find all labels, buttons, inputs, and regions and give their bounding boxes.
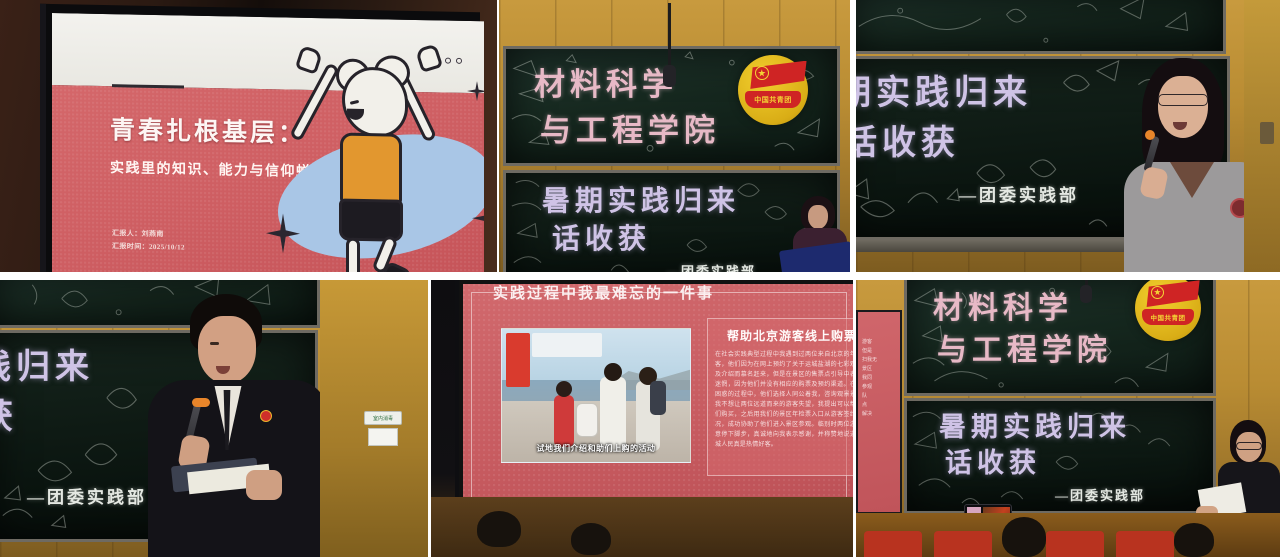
photo-projected-slide: 实践过程中我最难忘的一件事 试地我们介绍和助们上购的活动 (431, 280, 853, 557)
eye (210, 342, 219, 345)
audience-head (1174, 523, 1214, 557)
college-line-1: 材料科学 (933, 283, 1073, 327)
mascot-shorts (339, 199, 403, 242)
microphone-head (1145, 130, 1155, 140)
slide-title: 青春扎根基层： (110, 110, 306, 150)
glasses-icon (1236, 442, 1262, 450)
face (808, 205, 828, 229)
seat-back (1046, 531, 1104, 557)
mascot-right-hand (415, 44, 443, 73)
lapel-badge (260, 410, 272, 422)
blackboard-upper: 材料科学 与工程学院 中国共青团 (503, 46, 840, 166)
audience-head (477, 511, 521, 547)
college-line-2: 与工程学院 (937, 325, 1112, 369)
wall-socket (1260, 122, 1274, 144)
male-speaker (148, 294, 328, 557)
theme-line-1: 期实践归来 (856, 65, 1032, 114)
video-backpack (650, 381, 666, 415)
person-at-podium (787, 196, 850, 272)
wall-notice-sign: 室内消毒 (364, 411, 402, 425)
board-attribution: —团委实践部 (959, 181, 1079, 206)
slide-text-sliver: 游客但是扫我无景区我同参观队点解决 (862, 338, 898, 419)
title-slide: 青春扎根基层： 实践里的知识、能力与信仰蜕变 汇报人：刘燕南 汇报时间：2025… (52, 13, 484, 272)
mascot-left-arm (289, 62, 340, 142)
theme-fragment-1: 践归来 (0, 339, 94, 388)
board-attribution: —团委实践部 (666, 261, 756, 272)
video-easel-board (576, 403, 598, 437)
photo-female-speaker: 期实践归来 话收获 —团委实践部 (856, 0, 1280, 272)
mascot-shirt (340, 133, 402, 206)
video-person-white (600, 377, 626, 451)
hanging-microphone-cable (668, 3, 671, 67)
mascot-left-hand (295, 45, 323, 75)
video-white-sign (532, 333, 602, 357)
slide-surface: 实践过程中我最难忘的一件事 试地我们介绍和助们上购的活动 (463, 284, 853, 518)
cheering-student-illustration (292, 42, 472, 272)
date-line: 汇报时间：2025/10/12 (112, 240, 185, 254)
mascot-left-leg (346, 238, 360, 272)
seat-back (864, 531, 922, 557)
blackboard-upper: 材料科学 与工程学院 中国共青团 (904, 280, 1216, 396)
hanging-microphone (663, 65, 676, 87)
glasses-icon (1158, 94, 1208, 106)
wall-notice-card (368, 428, 398, 446)
seat-back (1116, 531, 1174, 557)
slide-header: 实践过程中我最难忘的一件事 (493, 284, 714, 303)
theme-line-2: 话收获 (945, 441, 1041, 480)
audience-head (1002, 517, 1046, 557)
theme-line-2: 话收获 (856, 115, 960, 164)
photo-collage: 青春扎根基层： 实践里的知识、能力与信仰蜕变 汇报人：刘燕南 汇报时间：2025… (0, 0, 1280, 557)
emblem-banner: 中国共青团 (1142, 309, 1195, 325)
communist-youth-league-emblem: 中国共青团 (1135, 280, 1201, 341)
podium-folder (779, 241, 850, 272)
face (198, 316, 256, 384)
projector-screen-edge: 游客但是扫我无景区我同参观队点解决 (856, 310, 902, 514)
hanging-microphone (1080, 285, 1092, 303)
college-line-1: 材料科学 (534, 59, 678, 104)
slide-card-body: 在社会实践典型过程中我遇到过两位来自北京的年轻游客，他们因为在网上预约了关于运城… (715, 350, 853, 450)
star-circle-icon (755, 66, 769, 80)
chalk-doodles (856, 0, 1223, 56)
emblem-banner: 中国共青团 (745, 91, 801, 108)
blackboard-upper-strip (856, 0, 1226, 54)
audience-head (571, 523, 611, 555)
photo-male-speaker: 践归来 获 —团委实践部 室内消毒 (0, 280, 428, 557)
video-person-red (554, 395, 574, 447)
seat-back (934, 531, 992, 557)
theme-fragment-2: 获 (0, 389, 18, 438)
projector-screen: 实践过程中我最难忘的一件事 试地我们介绍和助们上购的活动 (455, 280, 853, 526)
theme-line-1: 暑期实践归来 (542, 179, 740, 219)
board-attribution: —团委实践部 (27, 483, 147, 508)
video-person-red-head (556, 381, 572, 397)
slide-card-title: 帮助北京游客线上购票 (715, 327, 853, 344)
video-caption: 试地我们介绍和助们上购的活动 (502, 443, 690, 454)
college-line-2: 与工程学院 (540, 105, 720, 150)
video-red-banner (506, 333, 530, 387)
embedded-video: 试地我们介绍和助们上购的活动 (501, 328, 691, 463)
microphone-head (192, 398, 210, 407)
photo-wide-blackboard: 游客但是扫我无景区我同参观队点解决 材料科学 与工程学院 中国共青团 (856, 280, 1280, 557)
hand-holding-notes (246, 470, 282, 500)
board-attribution: —团委实践部 (1055, 485, 1145, 504)
blackboard-lower: 暑期实践归来 话收获 —团委实践部 (904, 398, 1216, 514)
photo-blackboard-header: 材料科学 与工程学院 中国共青团 (499, 0, 850, 272)
wall-notice-text: 室内消毒 (373, 415, 393, 422)
video-person-white-head (604, 363, 622, 381)
photo-title-slide: 青春扎根基层： 实践里的知识、能力与信仰蜕变 汇报人：刘燕南 汇报时间：2025… (0, 0, 497, 272)
theme-line-2: 话收获 (552, 217, 651, 257)
star-circle-icon (1151, 286, 1164, 299)
slide-meta: 汇报人：刘燕南 汇报时间：2025/10/12 (112, 227, 185, 254)
communist-youth-league-emblem: 中国共青团 (738, 55, 808, 125)
slide-text-card: 帮助北京游客线上购票 在社会实践典型过程中我遇到过两位来自北京的年轻游客，他们因… (707, 318, 853, 476)
projector-screen-frame: 青春扎根基层： 实践里的知识、能力与信仰蜕变 汇报人：刘燕南 汇报时间：2025… (40, 4, 480, 272)
theme-line-1: 暑期实践归来 (939, 405, 1131, 444)
